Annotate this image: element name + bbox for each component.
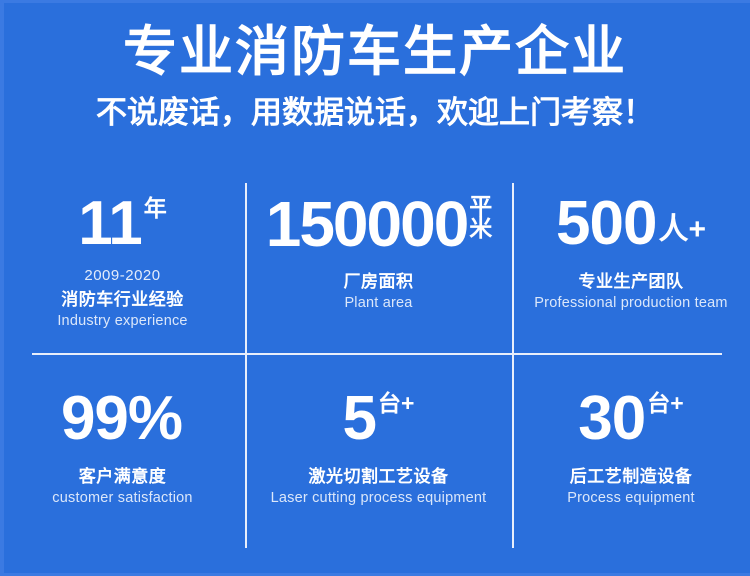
stat-cell-process-equipment: 30 台+ 后工艺制造设备 Process equipment — [512, 378, 750, 548]
stat-cell-production-team: 500 人+ 专业生产团队 Professional production te… — [512, 183, 750, 353]
stat-cell-plant-area: 150000 平米 厂房面积 Plant area — [245, 183, 512, 353]
stat-suffix: 平米 — [469, 195, 491, 239]
stat-suffix: 人+ — [658, 215, 706, 245]
stat-value: 30 台+ — [512, 378, 750, 466]
stat-value: 99% — [0, 378, 245, 466]
stat-label-cn: 厂房面积 — [245, 271, 512, 293]
stat-label-cn: 消防车行业经验 — [0, 289, 245, 311]
stats-row-bottom: 99% 客户满意度 customer satisfaction 5 台+ 激光切… — [0, 378, 750, 548]
stat-cell-industry-experience: 11 年 2009-2020 消防车行业经验 Industry experien… — [0, 183, 245, 353]
stat-label-en: Laser cutting process equipment — [245, 489, 512, 507]
stat-label-en: Plant area — [245, 294, 512, 312]
stat-value: 5 台+ — [245, 378, 512, 466]
stat-label-en: Industry experience — [0, 312, 245, 330]
stats-row-top: 11 年 2009-2020 消防车行业经验 Industry experien… — [0, 183, 750, 353]
stat-suffix: 台+ — [647, 392, 683, 415]
stats-grid: 11 年 2009-2020 消防车行业经验 Industry experien… — [0, 183, 750, 548]
stat-number: 500 — [556, 183, 656, 265]
stat-number: 11 — [78, 183, 142, 265]
stat-label-cn: 专业生产团队 — [512, 271, 750, 293]
banner-header: 专业消防车生产企业 不说废话，用数据说话，欢迎上门考察！ — [0, 0, 750, 131]
divider-horizontal — [32, 353, 722, 355]
stat-value: 11 年 — [0, 183, 245, 271]
stat-number: 5 — [343, 378, 376, 460]
stat-label-en: Professional production team — [512, 294, 750, 312]
divider-vertical-left — [245, 183, 247, 548]
stat-number: 30 — [578, 378, 645, 460]
stat-number: 99% — [61, 378, 182, 460]
stat-label-cn: 后工艺制造设备 — [512, 466, 750, 488]
page-subtitle: 不说废话，用数据说话，欢迎上门考察！ — [0, 95, 750, 131]
page-title: 专业消防车生产企业 — [0, 22, 750, 82]
stat-suffix: 台+ — [378, 392, 414, 415]
promo-banner: 专业消防车生产企业 不说废话，用数据说话，欢迎上门考察！ 11 年 2009-2… — [0, 0, 750, 576]
stat-value: 500 人+ — [512, 183, 750, 271]
stat-label-cn: 客户满意度 — [0, 466, 245, 488]
stat-label-cn: 激光切割工艺设备 — [245, 466, 512, 488]
stat-label-en: customer satisfaction — [0, 489, 245, 507]
stat-note: 2009-2020 — [0, 267, 245, 285]
stat-label-en: Process equipment — [512, 489, 750, 507]
stat-cell-laser-cutting-equipment: 5 台+ 激光切割工艺设备 Laser cutting process equi… — [245, 378, 512, 548]
stat-cell-customer-satisfaction: 99% 客户满意度 customer satisfaction — [0, 378, 245, 548]
stat-value: 150000 平米 — [245, 183, 512, 271]
stat-suffix: 年 — [144, 197, 167, 220]
stat-number: 150000 — [266, 183, 468, 265]
divider-vertical-right — [512, 183, 514, 548]
